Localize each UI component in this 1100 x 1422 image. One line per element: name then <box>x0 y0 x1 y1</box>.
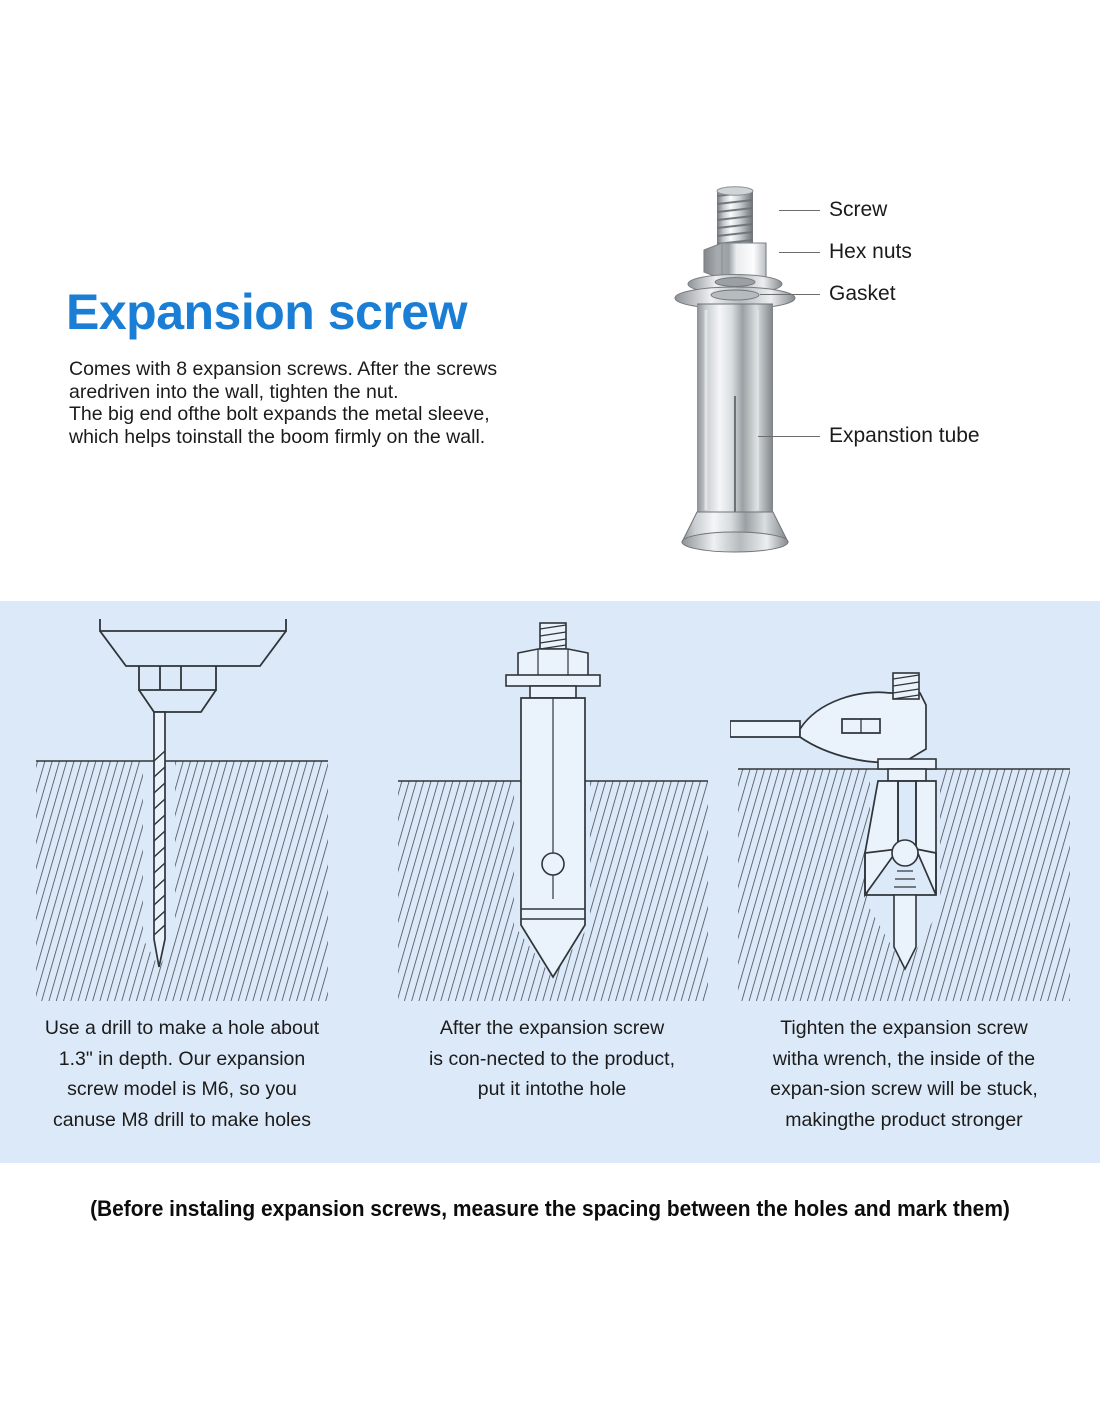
leader-line <box>779 210 820 211</box>
intro-line: which helps toinstall the boom firmly on… <box>69 426 549 449</box>
cone-wedge <box>892 840 918 969</box>
step-caption: After the expansion screw is con-nected … <box>378 1013 726 1105</box>
caption-line: Use a drill to make a hole about <box>8 1013 356 1044</box>
step-caption: Use a drill to make a hole about 1.3" in… <box>8 1013 356 1135</box>
anchor-inserted-in-hole-diagram <box>378 609 726 1009</box>
caption-line: makingthe product stronger <box>730 1105 1078 1136</box>
installation-steps-panel: Use a drill to make a hole about 1.3" in… <box>0 601 1100 1163</box>
caption-line: put it intothe hole <box>378 1074 726 1105</box>
caption-line: After the expansion screw <box>378 1013 726 1044</box>
callout-gasket: Gasket <box>760 284 896 304</box>
step-tighten-wrench: Tighten the expansion screw witha wrench… <box>730 601 1078 1163</box>
caption-line: expan-sion screw will be stuck, <box>730 1074 1078 1105</box>
wrench-tightening-anchor-diagram <box>730 609 1078 1009</box>
caption-line: witha wrench, the inside of the <box>730 1044 1078 1075</box>
intro-line: Comes with 8 expansion screws. After the… <box>69 358 549 381</box>
caption-line: canuse M8 drill to make holes <box>8 1105 356 1136</box>
expanded-sleeve <box>865 781 936 895</box>
leader-line <box>779 252 820 253</box>
footer-note: (Before instaling expansion screws, meas… <box>39 1196 1062 1222</box>
hex-nut <box>704 243 766 279</box>
leader-line <box>758 436 820 437</box>
bolt-cone-base <box>682 512 788 552</box>
caption-line: is con-nected to the product, <box>378 1044 726 1075</box>
header-panel: Expansion screw Comes with 8 expansion s… <box>0 0 1100 601</box>
drill-bit <box>154 712 165 967</box>
step-insert-anchor: After the expansion screw is con-nected … <box>378 601 726 1163</box>
callout-label: Expanstion tube <box>829 424 980 448</box>
callout-label: Hex nuts <box>829 240 912 264</box>
callout-hex-nuts: Hex nuts <box>779 242 912 262</box>
expansion-sleeve <box>521 698 585 977</box>
screw-thread-stub <box>893 673 919 699</box>
caption-line: Tighten the expansion screw <box>730 1013 1078 1044</box>
intro-paragraph: Comes with 8 expansion screws. After the… <box>69 358 549 448</box>
wall-cross-section <box>36 761 328 1001</box>
screw-threads <box>717 187 753 246</box>
washer-stack <box>878 759 936 781</box>
caption-line: 1.3" in depth. Our expansion <box>8 1044 356 1075</box>
screw-thread-stub <box>540 623 566 649</box>
washer-stack <box>506 675 600 698</box>
callout-label: Screw <box>829 198 887 222</box>
step-caption: Tighten the expansion screw witha wrench… <box>730 1013 1078 1135</box>
intro-line: aredriven into the wall, tighten the nut… <box>69 381 549 404</box>
drill-body <box>100 619 286 712</box>
caption-line: screw model is M6, so you <box>8 1074 356 1105</box>
expansion-tube <box>697 304 773 512</box>
page-title: Expansion screw <box>66 283 467 341</box>
callout-screw: Screw <box>779 200 887 220</box>
callout-expansion-tube: Expanstion tube <box>758 426 980 446</box>
intro-line: The big end ofthe bolt expands the metal… <box>69 403 549 426</box>
drill-making-hole-diagram <box>8 609 356 1009</box>
expansion-bolt-photo <box>660 180 840 575</box>
leader-line <box>760 294 820 295</box>
step-drill-hole: Use a drill to make a hole about 1.3" in… <box>8 601 356 1163</box>
wrench <box>730 692 926 762</box>
callout-label: Gasket <box>829 282 896 306</box>
